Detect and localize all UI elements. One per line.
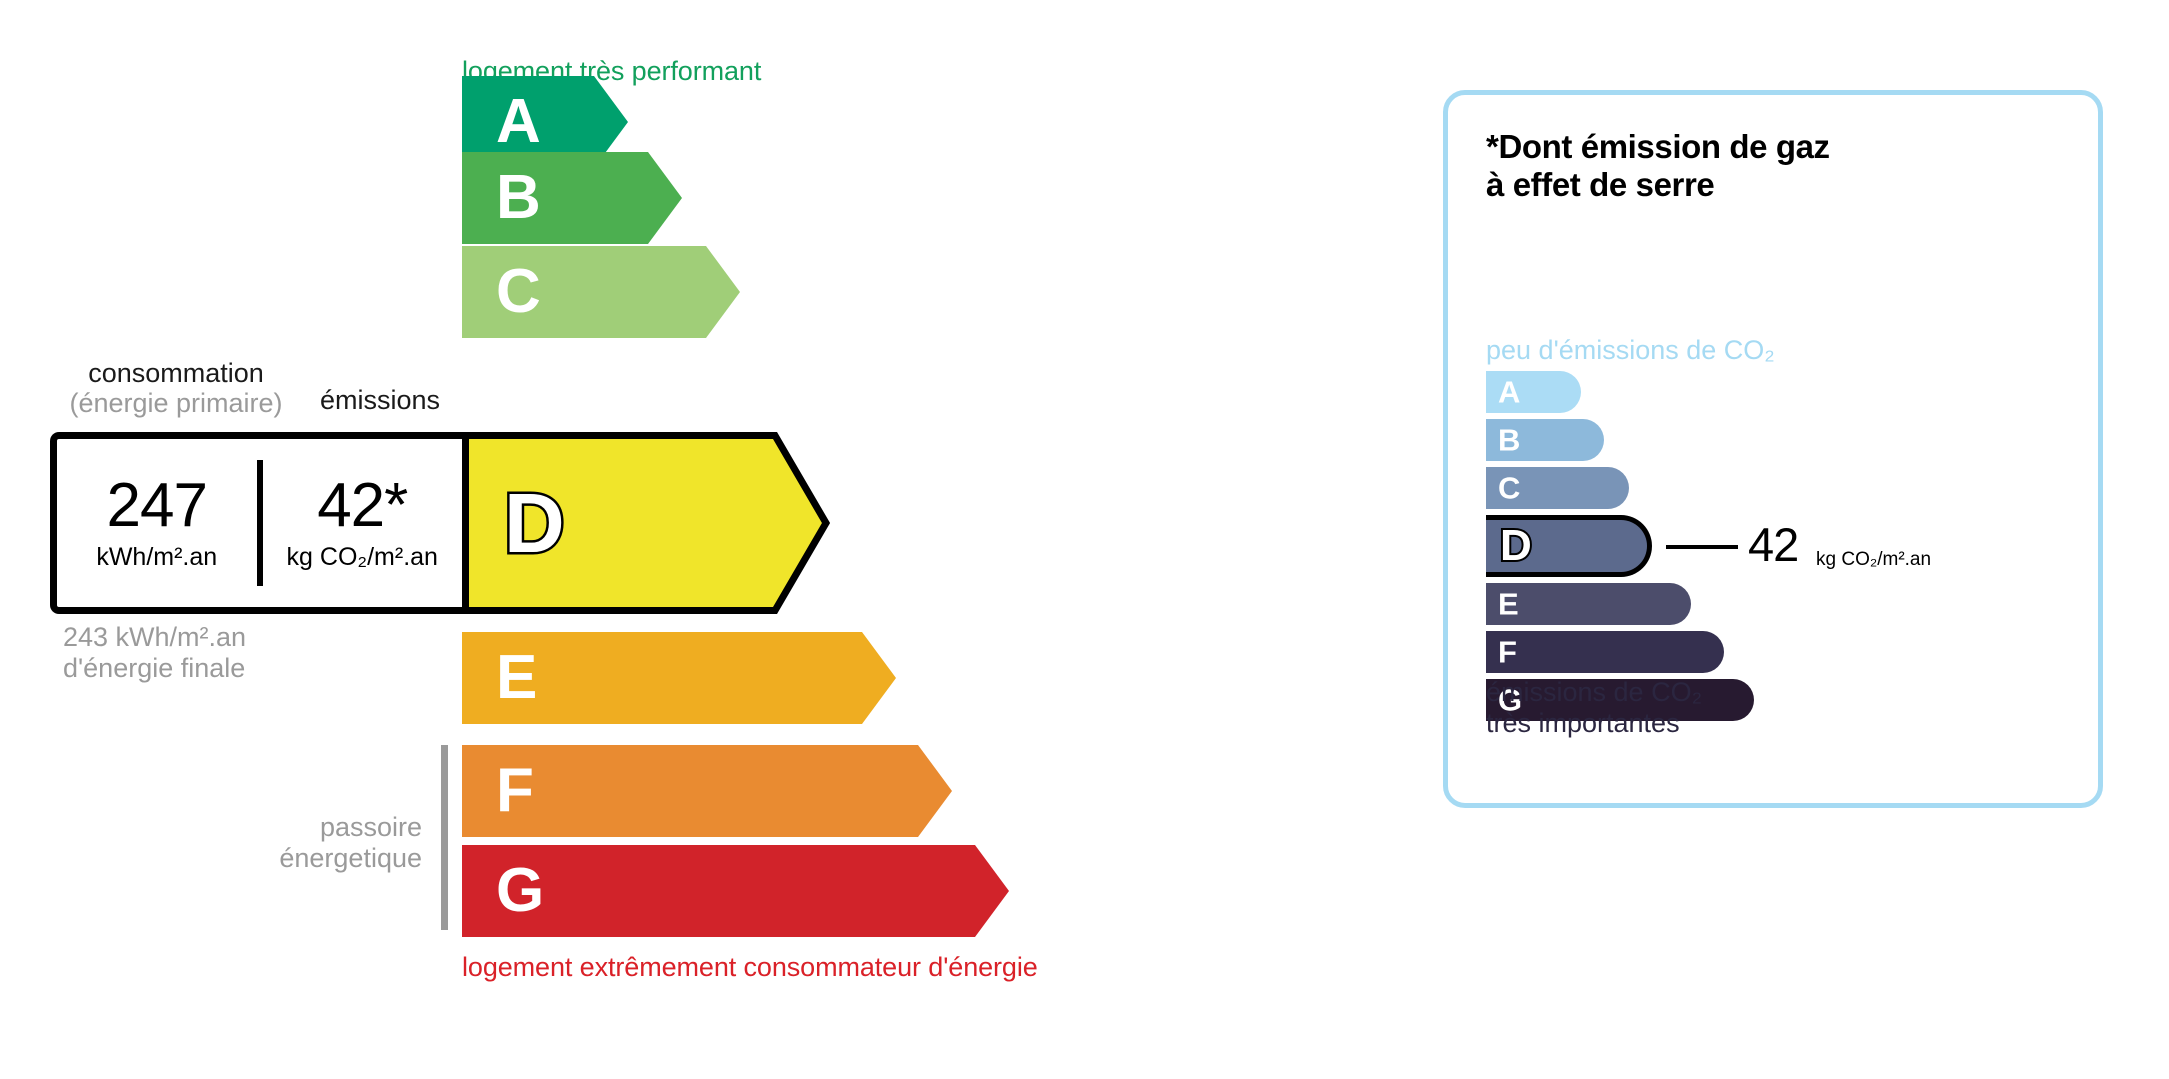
- co2-bottom-caption-line2: très importantes: [1486, 708, 1702, 739]
- passoire-bracket-line: [441, 745, 448, 930]
- co2-grade-letter-a: A: [1498, 377, 1520, 408]
- co2-measured-value-unit: kg CO₂/m².an: [1816, 549, 1931, 571]
- co2-row-c[interactable]: C: [1486, 467, 2086, 509]
- energy-performance-chart: logement très performant A B: [0, 0, 1400, 1079]
- energy-row-f[interactable]: F: [462, 745, 952, 837]
- co2-measured-value: 42: [1748, 521, 1798, 568]
- co2-leader-line: [1666, 545, 1738, 549]
- co2-row-d-selected[interactable]: D 42 kg CO₂/m².an: [1486, 515, 2086, 577]
- energy-row-c[interactable]: C: [462, 246, 740, 338]
- passoire-label: passoire énergetique: [200, 812, 422, 874]
- co2-grade-letter-f: F: [1498, 637, 1517, 668]
- passoire-line2: énergetique: [200, 843, 422, 874]
- energy-grade-letter-f: F: [496, 760, 534, 822]
- passoire-line1: passoire: [200, 812, 422, 843]
- co2-emissions-panel: *Dont émission de gaz à effet de serre p…: [1443, 90, 2103, 808]
- co2-grade-letter-c: C: [1498, 473, 1520, 504]
- emissions-value-unit: kg CO₂/m².an: [287, 543, 438, 572]
- energy-grade-letter-a: A: [496, 91, 541, 153]
- consumption-value-cell: 247 kWh/m².an: [57, 439, 257, 607]
- co2-title-line2: à effet de serre: [1486, 166, 1830, 204]
- co2-row-a[interactable]: A: [1486, 371, 2086, 413]
- co2-title-line1: *Dont émission de gaz: [1486, 128, 1830, 166]
- energy-grade-letter-e: E: [496, 647, 537, 709]
- energy-grade-letter-c: C: [496, 261, 541, 323]
- co2-bar-f: [1486, 631, 1724, 673]
- emissions-value: 42*: [317, 475, 407, 537]
- final-energy-line1: 243 kWh/m².an: [63, 622, 246, 653]
- energy-row-b[interactable]: B: [462, 152, 682, 244]
- co2-grade-rows: A B C D 42 kg CO₂/m².an E F G: [1486, 371, 2086, 727]
- energy-row-g[interactable]: G: [462, 845, 1009, 937]
- consumption-value: 247: [107, 475, 207, 537]
- energy-grade-letter-b: B: [496, 167, 541, 229]
- co2-bottom-caption-line1: émissions de CO₂: [1486, 677, 1702, 708]
- co2-grade-letter-e: E: [1498, 589, 1519, 620]
- consumption-label: consommation (énergie primaire): [50, 358, 302, 418]
- emissions-value-cell: 42* kg CO₂/m².an: [257, 460, 463, 586]
- co2-top-caption: peu d'émissions de CO₂: [1486, 335, 1775, 366]
- co2-row-e[interactable]: E: [1486, 583, 2086, 625]
- emissions-label: émissions: [300, 385, 460, 416]
- final-energy-line2: d'énergie finale: [63, 653, 246, 684]
- measured-values-box: 247 kWh/m².an 42* kg CO₂/m².an: [50, 432, 462, 614]
- energy-row-e[interactable]: E: [462, 632, 896, 724]
- co2-panel-title: *Dont émission de gaz à effet de serre: [1486, 128, 1830, 205]
- co2-row-f[interactable]: F: [1486, 631, 2086, 673]
- energy-arrow-b: [462, 152, 682, 244]
- consumption-label-sub: (énergie primaire): [50, 388, 302, 418]
- consumption-value-unit: kWh/m².an: [96, 543, 217, 572]
- energy-grade-letter-g: G: [496, 860, 544, 922]
- final-energy-label: 243 kWh/m².an d'énergie finale: [63, 622, 246, 684]
- consumption-label-main: consommation: [50, 358, 302, 388]
- co2-row-b[interactable]: B: [1486, 419, 2086, 461]
- energy-row-d-selected[interactable]: D: [462, 432, 830, 614]
- energy-grade-letter-d: D: [504, 481, 565, 565]
- chart-bottom-caption: logement extrêmement consommateur d'éner…: [462, 952, 1038, 983]
- energy-arrow-f: [462, 745, 952, 837]
- co2-bottom-caption: émissions de CO₂ très importantes: [1486, 677, 1702, 739]
- co2-grade-letter-b: B: [1498, 425, 1520, 456]
- co2-grade-letter-d: D: [1500, 524, 1532, 568]
